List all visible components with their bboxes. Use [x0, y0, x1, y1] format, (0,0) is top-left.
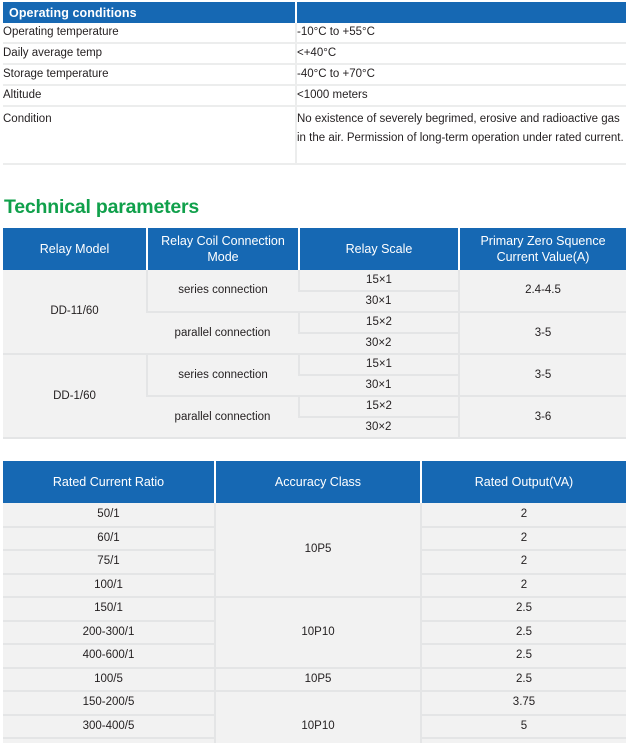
table-header-row: Relay Model Relay Coil Connection Mode R… [3, 228, 626, 270]
cell-ratio-8: 100/5 [3, 668, 215, 692]
cell-scale-1: 15×1 [299, 270, 459, 291]
spec-sheet-page: Operating conditions Operating temperatu… [0, 0, 629, 743]
table-row: Storage temperature -40°C to +70°C [3, 64, 626, 85]
cell-accuracy-group-3: 10P5 [215, 668, 421, 692]
cell-ratio-2: 60/1 [3, 527, 215, 551]
cell-mode-series-1: series connection [147, 270, 299, 312]
row-value-condition: No existence of severely begrimed, erosi… [296, 106, 626, 164]
cell-mode-series-2: series connection [147, 354, 299, 396]
cell-mode-parallel-1: parallel connection [147, 312, 299, 354]
cell-accuracy-group-2: 10P10 [215, 597, 421, 668]
cell-accuracy-group-1: 10P5 [215, 503, 421, 597]
technical-parameters-table: Relay Model Relay Coil Connection Mode R… [3, 228, 626, 439]
table-header-row: Rated Current Ratio Accuracy Class Rated… [3, 461, 626, 503]
cell-ratio-11: 500-600/5 [3, 738, 215, 743]
technical-parameters-heading: Technical parameters [4, 196, 199, 219]
cell-output-4: 2 [421, 574, 626, 598]
row-label-storage-temperature: Storage temperature [3, 64, 296, 85]
cell-output-5: 2.5 [421, 597, 626, 621]
cell-output-2: 2 [421, 527, 626, 551]
cell-ratio-5: 150/1 [3, 597, 215, 621]
cell-scale-6: 30×1 [299, 375, 459, 396]
table-row: 150-200/5 10P10 3.75 [3, 691, 626, 715]
cell-primary-3: 3-5 [459, 354, 626, 396]
col-header-primary-zero-sequence-current-value: Primary Zero Squence Current Value(A) [459, 228, 626, 270]
cell-relay-model-dd1-60: DD-1/60 [3, 354, 147, 438]
cell-output-8: 2.5 [421, 668, 626, 692]
operating-conditions-table: Operating conditions Operating temperatu… [3, 2, 626, 165]
table-row: 100/5 10P5 2.5 [3, 668, 626, 692]
cell-primary-2: 3-5 [459, 312, 626, 354]
cell-output-11: 5 [421, 738, 626, 743]
table-header-row: Operating conditions [3, 2, 626, 23]
cell-ratio-9: 150-200/5 [3, 691, 215, 715]
row-label-operating-temperature: Operating temperature [3, 23, 296, 43]
operating-conditions-title: Operating conditions [3, 2, 296, 23]
cell-output-7: 2.5 [421, 644, 626, 668]
cell-mode-parallel-2: parallel connection [147, 396, 299, 438]
col-header-relay-coil-connection-mode: Relay Coil Connection Mode [147, 228, 299, 270]
cell-scale-7: 15×2 [299, 396, 459, 417]
cell-scale-2: 30×1 [299, 291, 459, 312]
cell-ratio-4: 100/1 [3, 574, 215, 598]
cell-accuracy-group-4: 10P10 [215, 691, 421, 743]
cell-primary-1: 2.4-4.5 [459, 270, 626, 312]
table-row: Operating temperature -10°C to +55°C [3, 23, 626, 43]
table-row: 150/1 10P10 2.5 [3, 597, 626, 621]
cell-ratio-10: 300-400/5 [3, 715, 215, 739]
row-value-altitude: <1000 meters [296, 85, 626, 106]
col-header-rated-current-ratio: Rated Current Ratio [3, 461, 215, 503]
cell-scale-5: 15×1 [299, 354, 459, 375]
row-label-altitude: Altitude [3, 85, 296, 106]
cell-output-6: 2.5 [421, 621, 626, 645]
col-header-relay-scale: Relay Scale [299, 228, 459, 270]
col-header-relay-model: Relay Model [3, 228, 147, 270]
table-row: DD-11/60 series connection 15×1 2.4-4.5 [3, 270, 626, 291]
table-row: DD-1/60 series connection 15×1 3-5 [3, 354, 626, 375]
table-row: Condition No existence of severely begri… [3, 106, 626, 164]
cell-output-1: 2 [421, 503, 626, 527]
table-row: Altitude <1000 meters [3, 85, 626, 106]
cell-ratio-1: 50/1 [3, 503, 215, 527]
row-label-daily-average-temp: Daily average temp [3, 43, 296, 64]
cell-ratio-3: 75/1 [3, 550, 215, 574]
row-value-storage-temperature: -40°C to +70°C [296, 64, 626, 85]
rated-current-table: Rated Current Ratio Accuracy Class Rated… [3, 461, 626, 743]
cell-output-9: 3.75 [421, 691, 626, 715]
cell-primary-4: 3-6 [459, 396, 626, 438]
table-row: 50/1 10P5 2 [3, 503, 626, 527]
cell-output-3: 2 [421, 550, 626, 574]
cell-scale-3: 15×2 [299, 312, 459, 333]
cell-ratio-6: 200-300/1 [3, 621, 215, 645]
col-header-accuracy-class: Accuracy Class [215, 461, 421, 503]
operating-conditions-title-spacer [296, 2, 626, 23]
cell-output-10: 5 [421, 715, 626, 739]
row-value-operating-temperature: -10°C to +55°C [296, 23, 626, 43]
cell-relay-model-dd11-60: DD-11/60 [3, 270, 147, 354]
col-header-rated-output: Rated Output(VA) [421, 461, 626, 503]
cell-ratio-7: 400-600/1 [3, 644, 215, 668]
table-row: Daily average temp <+40°C [3, 43, 626, 64]
row-value-daily-average-temp: <+40°C [296, 43, 626, 64]
row-label-condition: Condition [3, 106, 296, 164]
cell-scale-8: 30×2 [299, 417, 459, 438]
cell-scale-4: 30×2 [299, 333, 459, 354]
